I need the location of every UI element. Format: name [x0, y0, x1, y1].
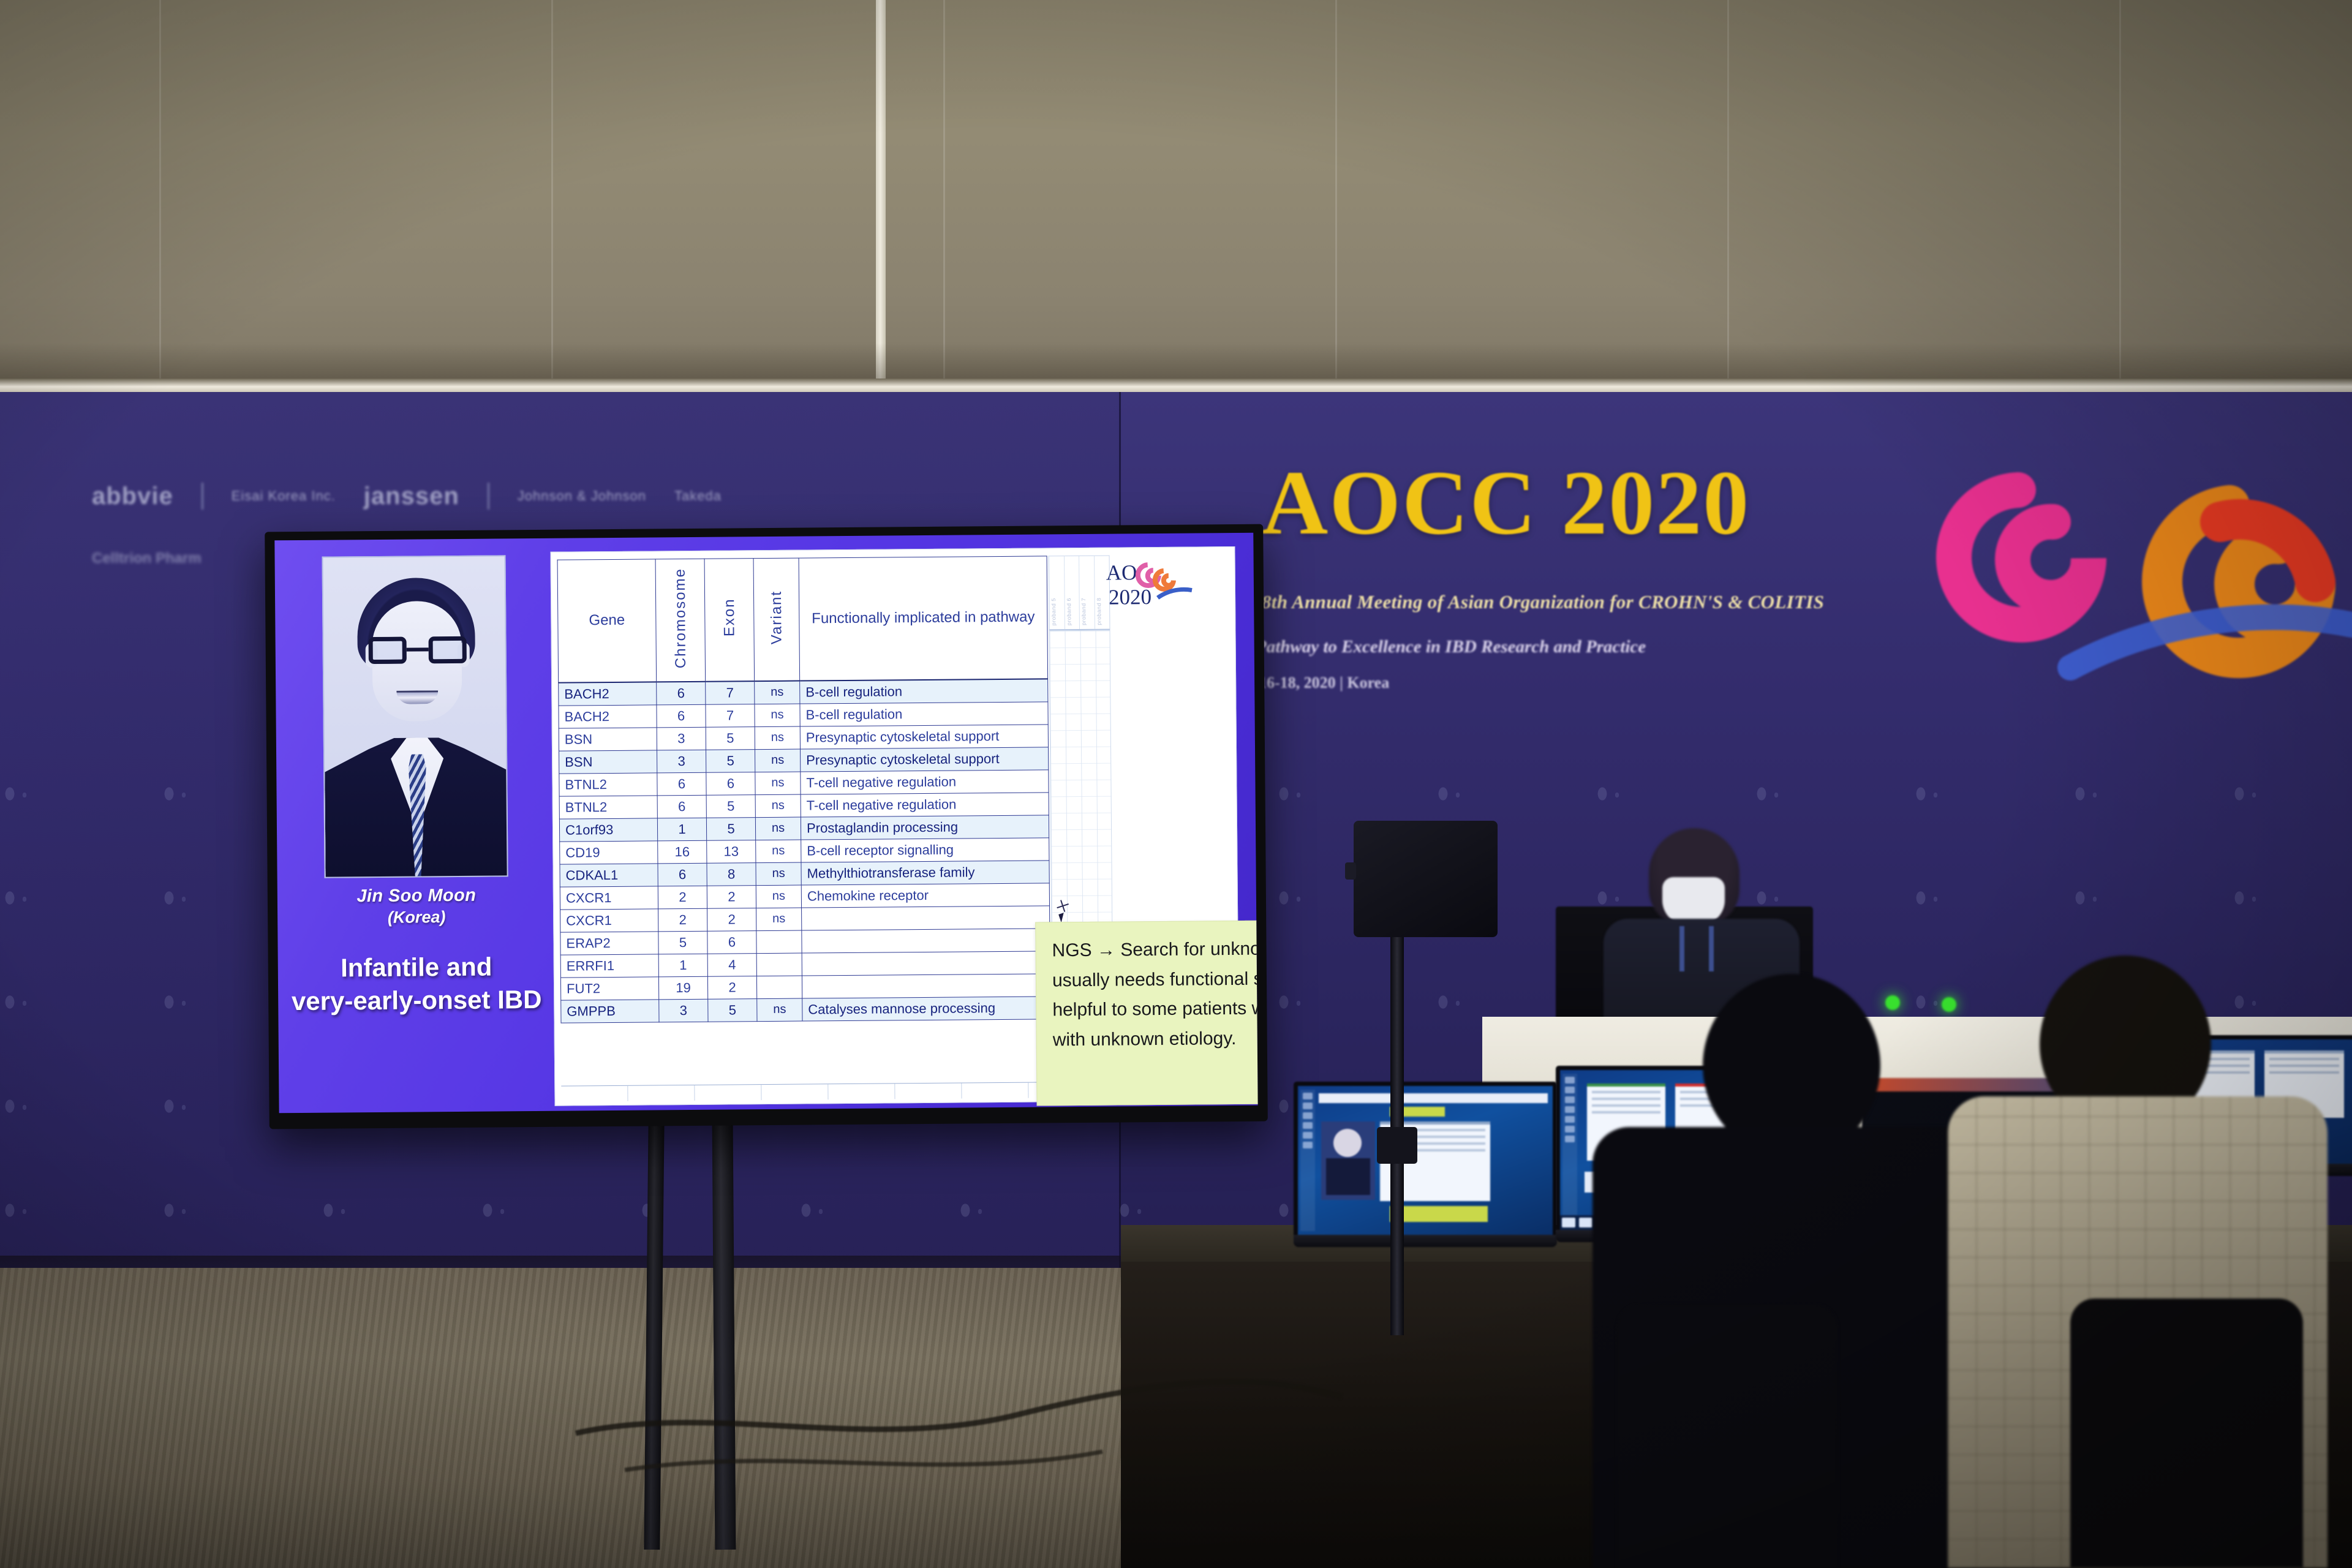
- col-pathway: Functionally implicated in pathway: [799, 556, 1048, 680]
- cell-chromosome: 16: [658, 840, 707, 864]
- cell-gene: ERRFI1: [560, 954, 658, 977]
- cell-variant: ns: [755, 704, 800, 727]
- table-row: GMPPB35nsCatalyses mannose processing: [561, 996, 1050, 1022]
- cell-pathway: [802, 928, 1050, 952]
- table-row: C1orf9315nsProstaglandin processing: [559, 815, 1049, 841]
- glasses-icon: [369, 636, 467, 664]
- cell-variant: ns: [755, 772, 801, 795]
- talk-title-line2: very-early-onset IBD: [292, 985, 542, 1016]
- table-row: BSN35nsPresynaptic cytoskeletal support: [559, 747, 1049, 773]
- cell-gene: CXCR1: [560, 908, 658, 932]
- cell-chromosome: 6: [657, 795, 706, 818]
- cell-variant: ns: [755, 794, 801, 818]
- lanyard: [1679, 926, 1714, 971]
- gene-variant-table: Gene Chromosome Exon Variant Functionall…: [557, 556, 1051, 1023]
- cell-gene: CXCR1: [560, 886, 658, 909]
- speaker-name: Jin Soo Moon: [314, 885, 519, 907]
- pole-clamp: [1377, 1127, 1417, 1164]
- cell-exon: 5: [706, 817, 755, 840]
- cell-chromosome: 3: [659, 999, 708, 1022]
- wall-shadow: [0, 343, 2352, 381]
- proband-column-header: proband 7: [1079, 556, 1095, 629]
- callout-line-1: NGS → Search for unknown genetic focus: [1052, 932, 1257, 966]
- cell-gene: ERAP2: [560, 931, 658, 954]
- speaker-country: (Korea): [314, 907, 519, 928]
- cell-variant: ns: [755, 749, 801, 772]
- sponsor-janssen-logo: janssen: [364, 483, 459, 510]
- table-row: FUT2192: [560, 973, 1050, 1000]
- cell-chromosome: 6: [657, 704, 706, 728]
- speaker-portrait: [322, 555, 508, 878]
- cell-gene: BSN: [559, 727, 657, 750]
- light-panel: [1354, 821, 1498, 937]
- svg-text:AO: AO: [1106, 560, 1137, 584]
- cell-chromosome: 3: [657, 750, 706, 773]
- cell-chromosome: 6: [657, 681, 706, 704]
- ngs-callout-box: NGS → Search for unknown genetic focus u…: [1035, 918, 1257, 1106]
- cell-exon: 7: [706, 704, 755, 727]
- proband-column-header: proband 8: [1094, 556, 1109, 629]
- callout-line-4: with unknown etiology.: [1053, 1022, 1258, 1055]
- banner-subtitle-1: 8th Annual Meeting of Asian Organization…: [1262, 591, 1960, 613]
- cell-pathway: B-cell receptor signalling: [801, 837, 1049, 862]
- cell-gene: BTNL2: [559, 772, 657, 796]
- cell-chromosome: 3: [657, 727, 706, 750]
- proband-column-header: proband 6: [1064, 556, 1079, 629]
- sponsor-divider: [202, 483, 203, 510]
- cell-chromosome: 2: [658, 886, 707, 909]
- cell-exon: 6: [707, 930, 756, 954]
- slide-content-sheet: AO 2020 Gene Chromosome: [550, 546, 1239, 1106]
- table-row: BACH267nsB-cell regulation: [559, 679, 1048, 706]
- banner-subtitle-3: 16-18, 2020 | Korea: [1259, 674, 1389, 692]
- chair-right: [2070, 1298, 2303, 1568]
- col-gene: Gene: [557, 559, 657, 682]
- cell-variant: ns: [757, 998, 802, 1022]
- col-chromosome: Chromosome: [655, 559, 706, 682]
- cell-chromosome: 1: [658, 954, 707, 977]
- cell-variant: ns: [756, 885, 801, 908]
- cell-variant: ns: [756, 908, 802, 931]
- cell-variant: [756, 953, 802, 976]
- table-row: ERAP256: [560, 928, 1050, 954]
- callout-line-2: usually needs functional study: [1052, 962, 1258, 996]
- cell-gene: C1orf93: [559, 818, 657, 841]
- cell-exon: 5: [706, 749, 755, 772]
- cell-pathway: Methylthiotransferase family: [801, 860, 1049, 884]
- sponsor-eisai-logo: Eisai Korea Inc.: [232, 488, 336, 504]
- table-row: CDKAL168nsMethylthiotransferase family: [560, 860, 1049, 886]
- cell-chromosome: 6: [658, 863, 707, 886]
- cell-variant: ns: [755, 726, 800, 750]
- cell-exon: 5: [706, 726, 755, 750]
- light-stand-pole: [1390, 907, 1404, 1335]
- cell-chromosome: 6: [657, 772, 706, 796]
- cell-chromosome: 19: [658, 976, 707, 1000]
- presentation-monitor: Jin Soo Moon (Korea) Infantile and very-…: [265, 524, 1268, 1129]
- monitor-bezel: Jin Soo Moon (Korea) Infantile and very-…: [274, 533, 1257, 1114]
- aocc-banner-swirl-graphic: [1887, 380, 2352, 723]
- cell-gene: BACH2: [559, 704, 657, 728]
- cell-exon: 5: [706, 794, 755, 818]
- table-row: BTNL265nsT-cell negative regulation: [559, 792, 1049, 818]
- cell-pathway: Prostaglandin processing: [801, 815, 1049, 839]
- banner-title: AOCC 2020: [1262, 450, 1750, 556]
- talk-title-line1: Infantile and: [341, 952, 492, 982]
- cell-exon: 8: [707, 862, 756, 886]
- cell-variant: ns: [756, 862, 801, 886]
- face-mask: [1662, 877, 1725, 925]
- cell-exon: 2: [707, 976, 756, 999]
- table-row: CD191613nsB-cell receptor signalling: [560, 837, 1049, 864]
- cell-pathway: Chemokine receptor: [801, 883, 1049, 907]
- cell-chromosome: 1: [657, 818, 706, 841]
- cell-gene: BACH2: [559, 682, 657, 706]
- cell-pathway: T-cell negative regulation: [801, 792, 1049, 816]
- monitor-screen: Jin Soo Moon (Korea) Infantile and very-…: [274, 533, 1257, 1114]
- cell-gene: CD19: [560, 840, 658, 864]
- cell-gene: GMPPB: [561, 999, 659, 1022]
- cell-gene: BSN: [559, 750, 657, 773]
- cell-pathway: [802, 905, 1050, 930]
- table-row: ERRFI114: [560, 951, 1050, 977]
- banner-subtitle-2: Pathway to Excellence in IBD Research an…: [1256, 637, 1954, 657]
- table-body: BACH267nsB-cell regulationBACH267nsB-cel…: [559, 679, 1050, 1023]
- cell-pathway: Presynaptic cytoskeletal support: [800, 724, 1048, 748]
- cell-pathway: [802, 973, 1050, 998]
- callout-line-3: helpful to some patients with rare prese…: [1052, 992, 1257, 1025]
- cell-exon: 2: [707, 885, 756, 908]
- cell-exon: 2: [707, 908, 756, 931]
- preview-laptop[interactable]: [1294, 1082, 1557, 1247]
- table-row: CXCR122ns: [560, 905, 1050, 932]
- col-variant: Variant: [753, 558, 800, 681]
- cell-exon: 4: [707, 953, 756, 976]
- cell-gene: FUT2: [560, 976, 658, 1000]
- floor-cables: [551, 1249, 1347, 1507]
- presentation-slide: Jin Soo Moon (Korea) Infantile and very-…: [274, 533, 1257, 1114]
- cell-pathway: B-cell regulation: [800, 701, 1048, 726]
- cell-variant: [756, 930, 802, 954]
- cell-chromosome: 2: [658, 908, 707, 932]
- table-row: BACH267nsB-cell regulation: [559, 701, 1048, 728]
- cell-variant: ns: [756, 840, 801, 863]
- conference-room-photo: abbvie Eisai Korea Inc. janssen Johnson …: [0, 0, 2352, 1568]
- chair-left: [1617, 1305, 1838, 1568]
- table-row: CXCR122nsChemokine receptor: [560, 883, 1049, 909]
- cell-chromosome: 5: [658, 931, 707, 954]
- cell-gene: BTNL2: [559, 795, 657, 818]
- aocc-2020-logo: AO 2020: [1105, 557, 1204, 610]
- talk-title: Infantile and very-early-onset IBD: [290, 950, 543, 1018]
- upper-wall-panels: [0, 0, 2352, 392]
- cell-pathway: Presynaptic cytoskeletal support: [801, 747, 1049, 771]
- sponsor-logo-row: abbvie Eisai Korea Inc. janssen Johnson …: [92, 477, 845, 516]
- cell-exon: 13: [707, 840, 756, 863]
- cell-pathway: Catalyses mannose processing: [802, 996, 1050, 1020]
- proband-column-header: proband 5: [1049, 556, 1065, 629]
- col-exon: Exon: [704, 559, 755, 682]
- cell-variant: [756, 976, 802, 999]
- svg-text:2020: 2020: [1109, 585, 1151, 609]
- sponsor-takeda-logo: Takeda: [674, 488, 722, 504]
- cell-variant: ns: [755, 817, 801, 840]
- cell-pathway: [802, 951, 1050, 975]
- sponsor-jnj-logo: Johnson & Johnson: [518, 488, 646, 504]
- cell-gene: CDKAL1: [560, 863, 658, 886]
- sponsor-abbvie-logo: abbvie: [92, 483, 173, 510]
- cell-variant: ns: [755, 680, 800, 704]
- cell-pathway: T-cell negative regulation: [801, 769, 1049, 794]
- table-header-row: Gene Chromosome Exon Variant Functionall…: [557, 556, 1048, 682]
- sponsor-divider-2: [488, 483, 489, 510]
- cell-exon: 6: [706, 772, 755, 795]
- cell-pathway: B-cell regulation: [800, 679, 1048, 704]
- cell-exon: 7: [706, 681, 755, 704]
- table-row: BTNL266nsT-cell negative regulation: [559, 769, 1049, 796]
- table-row: BSN35nsPresynaptic cytoskeletal support: [559, 724, 1048, 750]
- cell-exon: 5: [708, 998, 757, 1022]
